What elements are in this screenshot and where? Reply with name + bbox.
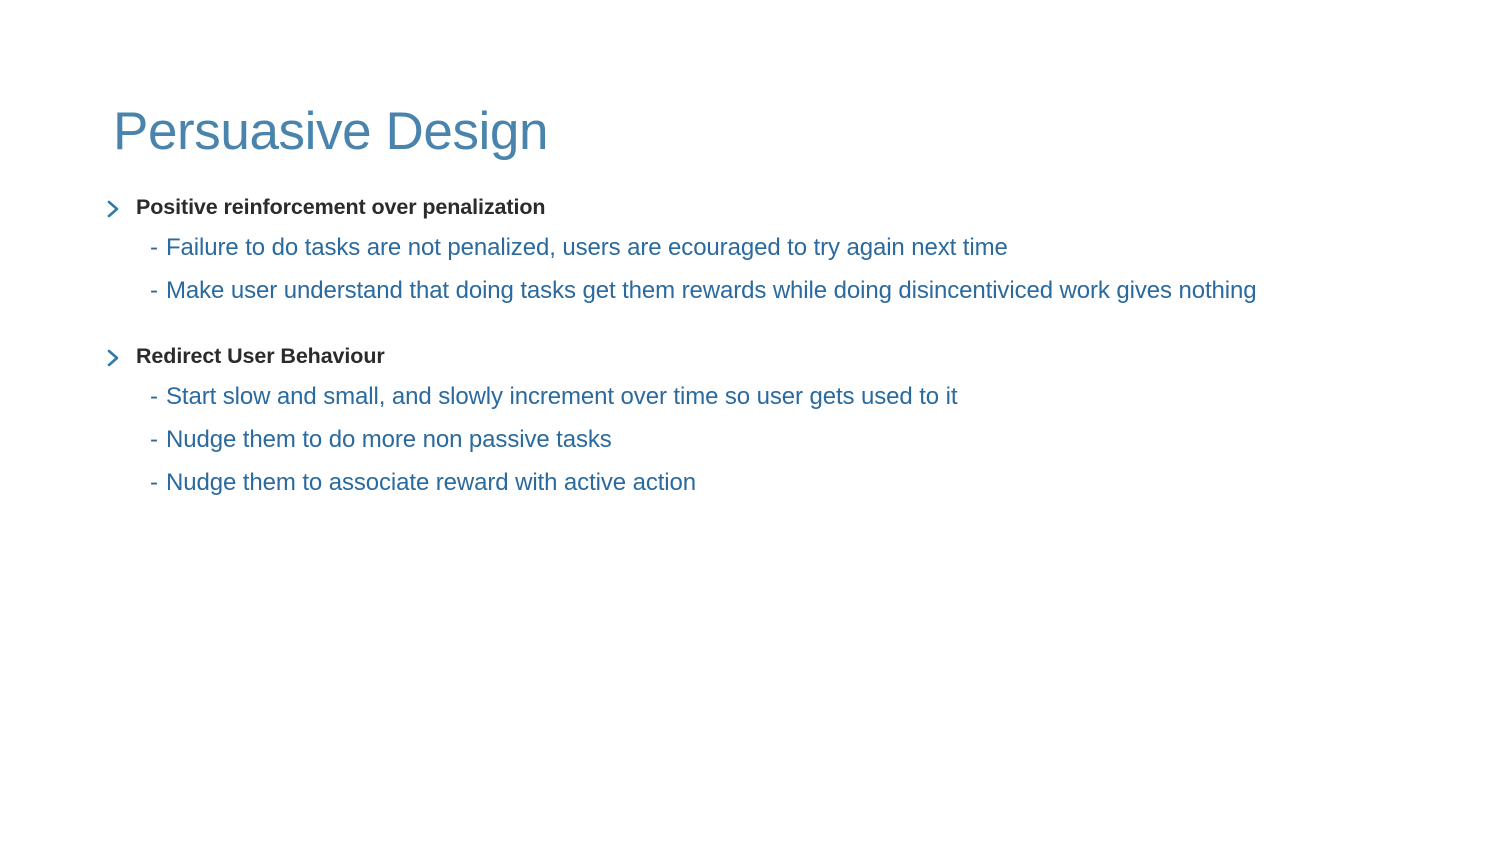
sub-bullet-label: Nudge them to associate reward with acti… (166, 464, 696, 501)
sub-bullet-list: - Start slow and small, and slowly incre… (106, 378, 1396, 501)
top-level-bullet: Positive reinforcement over penalization (106, 193, 1396, 223)
sub-bullet: - Start slow and small, and slowly incre… (106, 378, 1396, 415)
chevron-right-icon (106, 193, 136, 223)
dash-icon: - (150, 378, 166, 415)
sub-bullet-label: Failure to do tasks are not penalized, u… (166, 229, 1008, 266)
sub-bullet-label: Nudge them to do more non passive tasks (166, 421, 612, 458)
sub-bullet: - Failure to do tasks are not penalized,… (106, 229, 1396, 266)
sub-bullet-list: - Failure to do tasks are not penalized,… (106, 229, 1396, 309)
top-level-bullet-label: Redirect User Behaviour (136, 342, 385, 371)
slide-body: Positive reinforcement over penalization… (106, 193, 1396, 501)
sub-bullet: - Nudge them to associate reward with ac… (106, 464, 1396, 501)
content-group: Positive reinforcement over penalization… (106, 193, 1396, 309)
slide-canvas: Persuasive Design Positive reinforcement… (0, 0, 1500, 844)
sub-bullet-label: Make user understand that doing tasks ge… (166, 272, 1257, 309)
content-group: Redirect User Behaviour - Start slow and… (106, 342, 1396, 501)
sub-bullet: - Nudge them to do more non passive task… (106, 421, 1396, 458)
dash-icon: - (150, 272, 166, 309)
dash-icon: - (150, 464, 166, 501)
top-level-bullet: Redirect User Behaviour (106, 342, 1396, 372)
dash-icon: - (150, 229, 166, 266)
page-title: Persuasive Design (113, 99, 548, 165)
sub-bullet: - Make user understand that doing tasks … (106, 272, 1396, 309)
chevron-right-icon (106, 342, 136, 372)
sub-bullet-label: Start slow and small, and slowly increme… (166, 378, 957, 415)
top-level-bullet-label: Positive reinforcement over penalization (136, 193, 545, 222)
dash-icon: - (150, 421, 166, 458)
